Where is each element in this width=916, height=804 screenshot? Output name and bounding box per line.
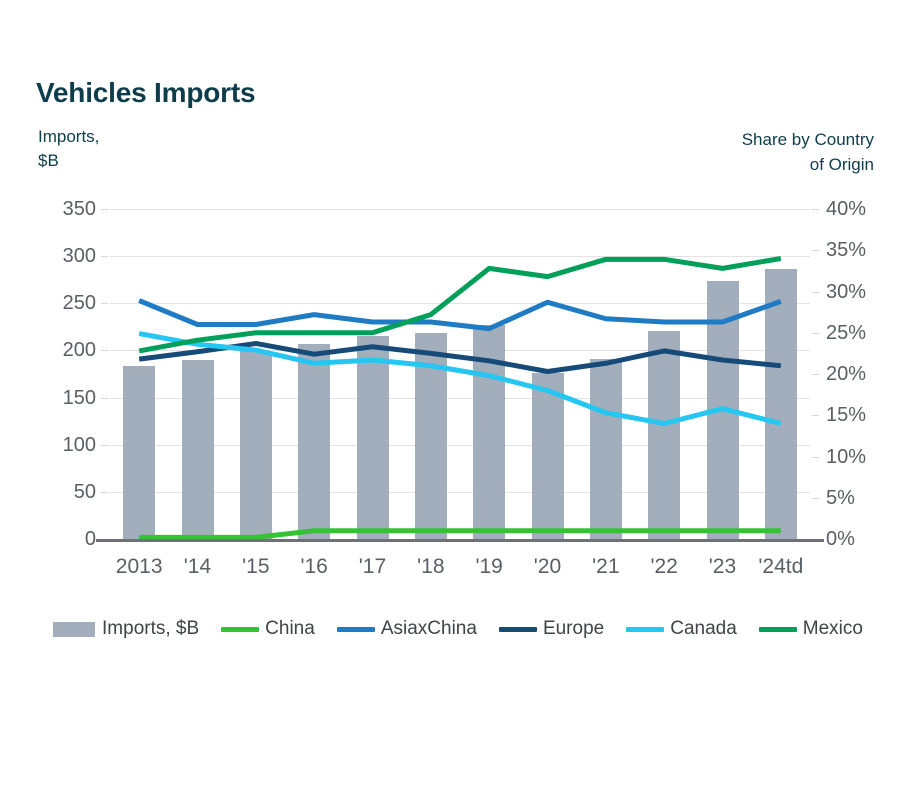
right-axis-tick-label: 20% — [826, 364, 896, 384]
legend-item-europe[interactable]: Europe — [499, 618, 604, 640]
x-axis-tick-label: '20 — [518, 555, 576, 579]
plot-area: 050100150200250300350 0%5%10%15%20%25%30… — [110, 209, 810, 539]
right-axis-tick-label: 40% — [826, 199, 896, 219]
right-tick-mark — [812, 333, 819, 334]
x-axis-tick-label: '23 — [693, 555, 751, 579]
right-axis-tick-label: 0% — [826, 529, 896, 549]
left-axis-tick-label: 250 — [34, 293, 96, 313]
left-axis-tick-label: 300 — [34, 246, 96, 266]
left-axis-tick-label: 150 — [34, 388, 96, 408]
right-axis-tick-label: 5% — [826, 488, 896, 508]
right-tick-mark — [812, 250, 819, 251]
legend-item-canada[interactable]: Canada — [626, 618, 737, 640]
right-tick-mark — [812, 457, 819, 458]
page-title: Vehicles Imports — [36, 76, 255, 110]
left-tick-mark — [101, 445, 108, 446]
legend-label: AsiaxChina — [381, 618, 477, 640]
right-axis-tick-label: 15% — [826, 405, 896, 425]
right-tick-mark — [812, 292, 819, 293]
line-china — [139, 531, 781, 538]
line-mexico — [139, 259, 781, 351]
x-axis-tick-label: 2013 — [110, 555, 168, 579]
x-axis-tick-label: '18 — [402, 555, 460, 579]
right-tick-mark — [812, 374, 819, 375]
chart-canvas: Vehicles Imports Imports, $B Share by Co… — [0, 0, 916, 804]
left-tick-mark — [101, 209, 108, 210]
legend-label: Europe — [543, 618, 604, 640]
legend-label: China — [265, 618, 315, 640]
legend-label: Mexico — [803, 618, 863, 640]
left-axis-tick-label: 350 — [34, 199, 96, 219]
legend-line-swatch-icon — [499, 627, 537, 632]
x-axis-tick-label: '15 — [227, 555, 285, 579]
left-axis-tick-label: 0 — [34, 529, 96, 549]
legend-label: Canada — [670, 618, 737, 640]
left-tick-mark — [101, 350, 108, 351]
x-axis-tick-label: '16 — [285, 555, 343, 579]
left-tick-mark — [101, 256, 108, 257]
left-axis-title: Imports, $B — [38, 125, 99, 173]
legend-label: Imports, $B — [102, 618, 199, 640]
right-axis-tick-label: 35% — [826, 240, 896, 260]
left-axis-tick-label: 100 — [34, 435, 96, 455]
x-axis-tick-label: '22 — [635, 555, 693, 579]
x-axis-tick-label: '24td — [752, 555, 810, 579]
left-tick-mark — [101, 398, 108, 399]
line-series-group — [110, 209, 810, 539]
x-axis-tick-label: '17 — [343, 555, 401, 579]
legend-line-swatch-icon — [626, 627, 664, 632]
right-axis-title: Share by Country of Origin — [742, 127, 874, 177]
legend-item-imports-b[interactable]: Imports, $B — [53, 618, 199, 640]
right-axis-tick-label: 25% — [826, 323, 896, 343]
legend-line-swatch-icon — [759, 627, 797, 632]
right-tick-mark — [812, 209, 819, 210]
x-axis-tick-label: '14 — [168, 555, 226, 579]
left-tick-mark — [101, 492, 108, 493]
legend-line-swatch-icon — [337, 627, 375, 632]
x-axis-tick-label: '21 — [577, 555, 635, 579]
right-axis-tick-label: 10% — [826, 447, 896, 467]
left-axis-tick-label: 200 — [34, 340, 96, 360]
legend-line-swatch-icon — [221, 627, 259, 632]
x-axis-tick-label: '19 — [460, 555, 518, 579]
legend-bar-swatch-icon — [53, 622, 95, 637]
legend-item-mexico[interactable]: Mexico — [759, 618, 863, 640]
left-axis-tick-label: 50 — [34, 482, 96, 502]
line-asiaxchina — [139, 301, 781, 329]
right-tick-mark — [812, 415, 819, 416]
x-axis-line — [96, 539, 824, 542]
chart-legend: Imports, $BChinaAsiaxChinaEuropeCanadaMe… — [0, 618, 916, 640]
legend-item-china[interactable]: China — [221, 618, 315, 640]
line-canada — [139, 334, 781, 424]
legend-item-asiaxchina[interactable]: AsiaxChina — [337, 618, 477, 640]
right-tick-mark — [812, 498, 819, 499]
left-tick-mark — [101, 303, 108, 304]
right-axis-tick-label: 30% — [826, 282, 896, 302]
